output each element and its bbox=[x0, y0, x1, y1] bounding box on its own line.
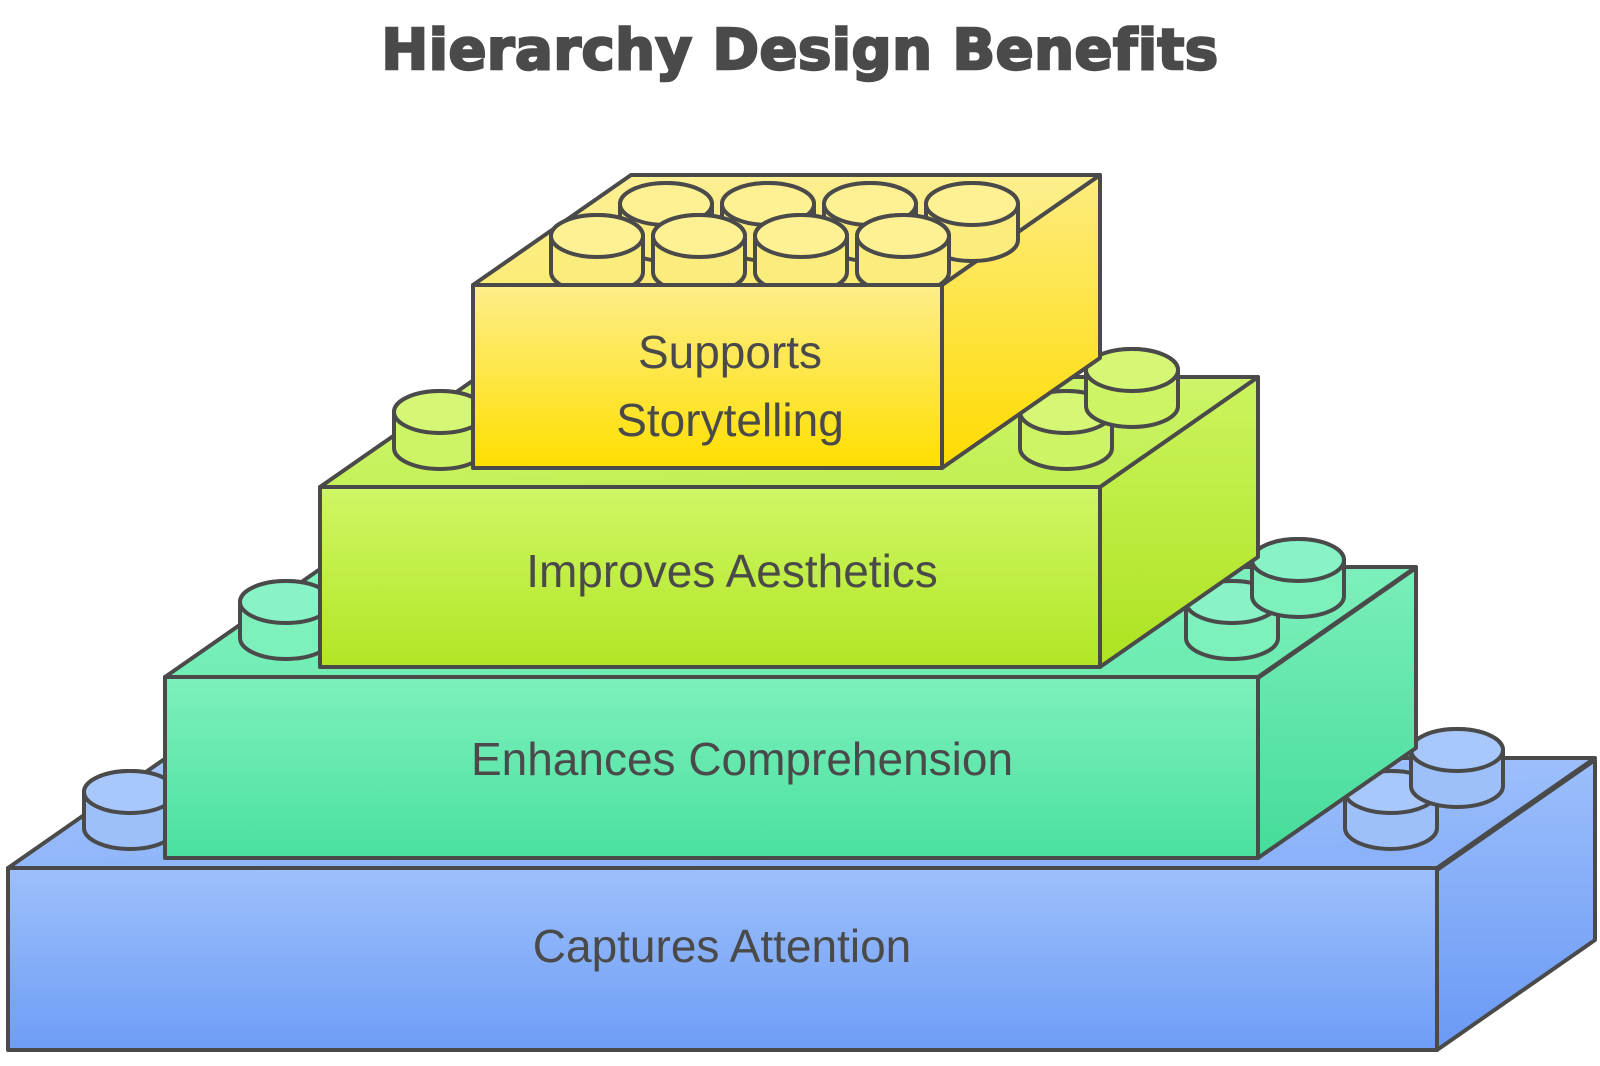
stud bbox=[755, 215, 847, 293]
stud bbox=[1411, 729, 1503, 807]
stud bbox=[857, 215, 949, 293]
brick-label-supports-storytelling-line2: Storytelling bbox=[616, 394, 844, 446]
stud bbox=[84, 771, 176, 849]
brick-label-improves-aesthetics: Improves Aesthetics bbox=[526, 545, 938, 597]
stud bbox=[1086, 349, 1178, 427]
brick-label-enhances-comprehension: Enhances Comprehension bbox=[471, 733, 1013, 785]
stud bbox=[653, 215, 745, 293]
brick-supports-storytelling[interactable]: Supports Storytelling bbox=[473, 175, 1100, 468]
brick-label-captures-attention: Captures Attention bbox=[533, 920, 911, 972]
stud bbox=[551, 215, 643, 293]
diagram-canvas: Hierarchy Design Benefits bbox=[0, 0, 1600, 1066]
brick-label-supports-storytelling-line1: Supports bbox=[638, 326, 822, 378]
lego-pyramid-graphic: Captures Attention Enhance bbox=[0, 0, 1600, 1066]
stud bbox=[1252, 539, 1344, 617]
